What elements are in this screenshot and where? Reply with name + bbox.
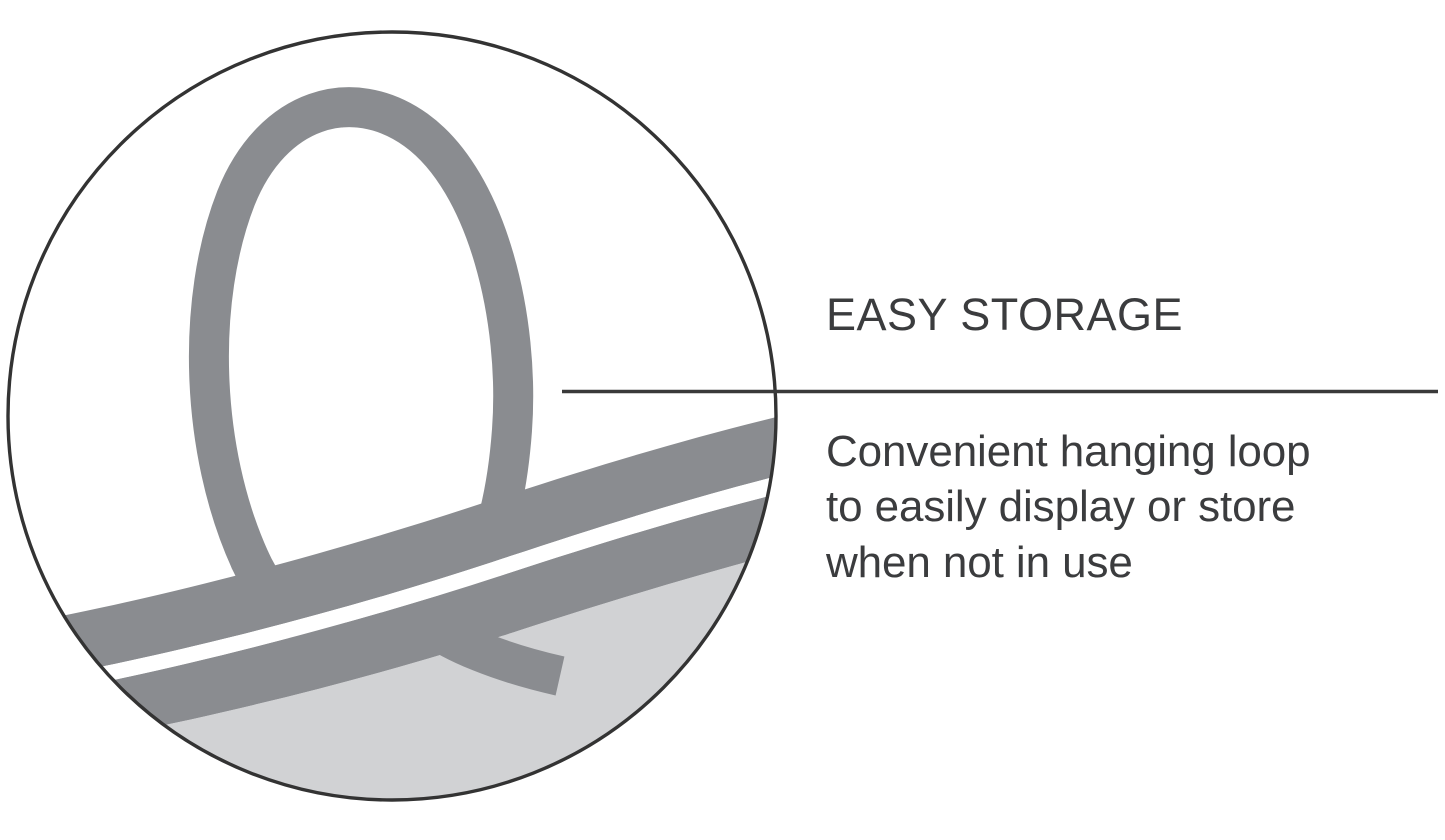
headline-block: EASY STORAGE	[826, 292, 1426, 337]
description-line-2: to easily display or store	[826, 479, 1436, 534]
product-feature-callout: EASY STORAGE Convenient hanging loop to …	[0, 0, 1445, 840]
page-title: EASY STORAGE	[826, 292, 1426, 337]
description-line-3: when not in use	[826, 535, 1436, 590]
description-line-1: Convenient hanging loop	[826, 424, 1436, 479]
callout-illustration	[0, 0, 1445, 840]
description-block: Convenient hanging loop to easily displa…	[826, 424, 1436, 590]
